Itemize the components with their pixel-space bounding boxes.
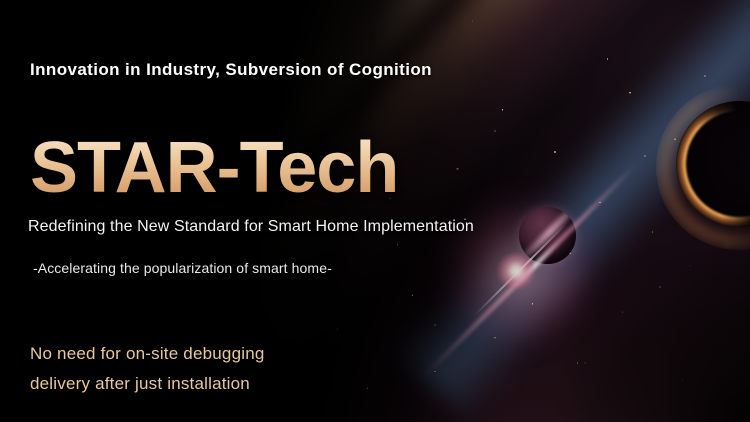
- poster-subtitle: Redefining the New Standard for Smart Ho…: [28, 218, 474, 236]
- poster-tagline: -Accelerating the popularization of smar…: [33, 260, 332, 276]
- poster-headline: Innovation in Industry, Subversion of Co…: [30, 60, 432, 80]
- promise-line-1: No need for on-site debugging: [30, 339, 265, 369]
- promise-block: No need for on-site debugging delivery a…: [30, 339, 265, 399]
- poster-content: Innovation in Industry, Subversion of Co…: [0, 0, 750, 422]
- brand-title: STAR-Tech: [30, 132, 398, 204]
- space-tech-poster: Innovation in Industry, Subversion of Co…: [0, 0, 750, 422]
- promise-line-2: delivery after just installation: [30, 369, 265, 399]
